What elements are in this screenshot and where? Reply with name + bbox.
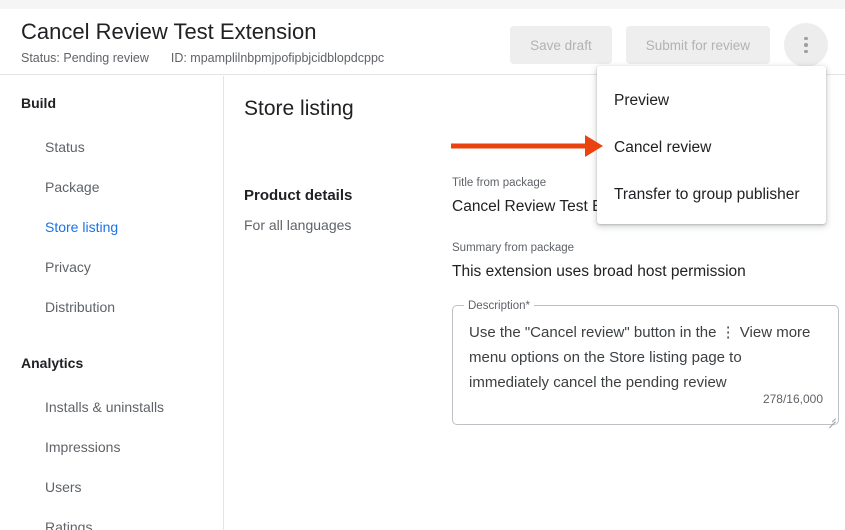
product-details-heading: Product details: [244, 185, 434, 207]
product-details-section-label: Product details For all languages: [244, 185, 434, 235]
menu-item-preview[interactable]: Preview: [597, 77, 826, 124]
extension-id: ID: mpamplilnbpmjpofipbjcidblopdcppc: [171, 50, 384, 66]
description-field-value[interactable]: Use the "Cancel review" button in the ⋮ …: [453, 306, 838, 395]
sidebar-item-status[interactable]: Status: [0, 127, 223, 167]
summary-field-value: This extension uses broad host permissio…: [452, 261, 837, 283]
sidebar-item-users[interactable]: Users: [0, 467, 223, 507]
sidebar-item-ratings[interactable]: Ratings: [0, 507, 223, 530]
sidebar-item-distribution[interactable]: Distribution: [0, 287, 223, 327]
annotation-arrow-icon: [449, 131, 605, 161]
summary-field-label: Summary from package: [452, 240, 837, 256]
sidebar-item-store-listing[interactable]: Store listing: [0, 207, 223, 247]
more-vert-icon[interactable]: [784, 23, 828, 67]
browser-top-strip: [0, 0, 845, 9]
description-field-label: Description*: [464, 299, 534, 313]
description-char-counter: 278/16,000: [763, 391, 823, 407]
sidebar-item-package[interactable]: Package: [0, 167, 223, 207]
header-title-block: Cancel Review Test Extension Status: Pen…: [21, 18, 384, 66]
resize-handle-icon[interactable]: [826, 412, 836, 422]
save-draft-button[interactable]: Save draft: [510, 26, 612, 64]
page-title: Cancel Review Test Extension: [21, 18, 384, 46]
sidebar-item-installs-uninstalls[interactable]: Installs & uninstalls: [0, 387, 223, 427]
kebab-dot: [804, 50, 808, 54]
kebab-dot: [804, 43, 808, 47]
sidebar: Build Status Package Store listing Priva…: [0, 76, 224, 530]
more-options-menu: Preview Cancel review Transfer to group …: [597, 66, 826, 224]
summary-from-package-field: Summary from package This extension uses…: [452, 240, 837, 283]
header-meta-row: Status: Pending review ID: mpamplilnbpmj…: [21, 50, 384, 66]
submit-for-review-button[interactable]: Submit for review: [626, 26, 770, 64]
description-textarea[interactable]: Description* Use the "Cancel review" but…: [452, 305, 839, 425]
store-listing-heading: Store listing: [244, 95, 354, 123]
menu-item-cancel-review[interactable]: Cancel review: [597, 124, 826, 171]
sidebar-item-impressions[interactable]: Impressions: [0, 427, 223, 467]
app-root: Cancel Review Test Extension Status: Pen…: [0, 0, 845, 530]
header-actions: Save draft Submit for review: [510, 23, 828, 67]
status-badge: Status: Pending review: [21, 50, 149, 66]
product-details-subtext: For all languages: [244, 215, 434, 235]
sidebar-group-build: Build: [0, 93, 223, 113]
sidebar-group-analytics: Analytics: [0, 353, 223, 373]
kebab-dot: [804, 37, 808, 41]
menu-item-transfer-to-group-publisher[interactable]: Transfer to group publisher: [597, 171, 826, 218]
sidebar-item-privacy[interactable]: Privacy: [0, 247, 223, 287]
